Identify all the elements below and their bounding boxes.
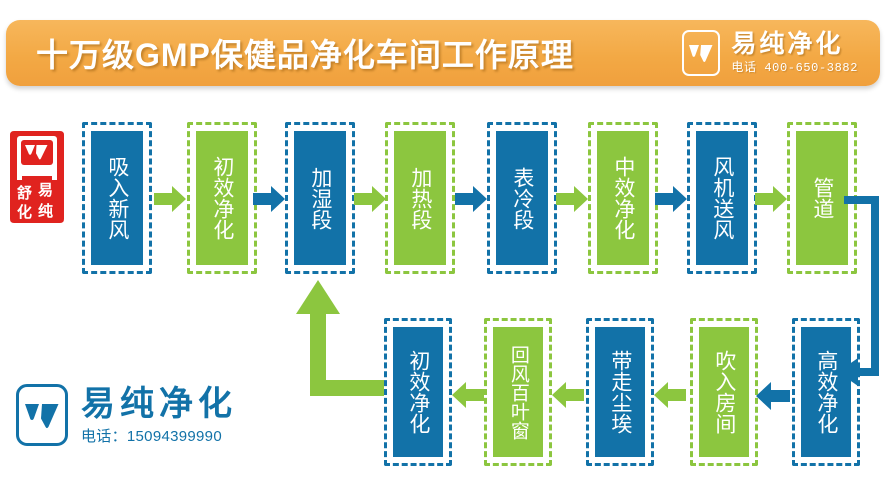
red-seal-stamp-icon: 舒易 化纯 (8, 128, 66, 226)
node-label: 中效净化 (612, 156, 634, 240)
node-label: 初效净化 (211, 156, 233, 240)
node-fill: 加热段 (394, 131, 446, 265)
flow-node-row1-5[interactable]: 中效净化 (588, 122, 658, 274)
node-fill: 加湿段 (294, 131, 346, 265)
prefilter-to-humidifier-connector (296, 280, 386, 396)
flow-arrow-row2-3 (756, 382, 790, 410)
flow-node-row1-3[interactable]: 加热段 (385, 122, 455, 274)
page-title: 十万级GMP保健品净化车间工作原理 (36, 30, 574, 76)
node-label: 吸入新风 (106, 156, 128, 240)
node-label: 风机送风 (711, 156, 733, 240)
flow-node-row1-0[interactable]: 吸入新风 (82, 122, 152, 274)
node-fill: 中效净化 (597, 131, 649, 265)
node-label: 高效净化 (815, 350, 837, 434)
node-fill: 高效净化 (801, 327, 851, 457)
node-fill: 风机送风 (696, 131, 748, 265)
flow-arrow-row2-2 (654, 382, 686, 408)
yichun-w-mark-icon (682, 30, 720, 76)
flow-arrow-row1-1 (253, 186, 285, 212)
flow-arrow-row1-5 (655, 186, 687, 212)
flow-arrow-row2-1 (552, 382, 584, 408)
flow-arrow-row1-4 (556, 186, 588, 212)
node-label: 加热段 (409, 167, 431, 230)
diagram-canvas: 十万级GMP保健品净化车间工作原理 易纯净化 电话 400-650-3882 (0, 0, 886, 488)
flow-node-row1-6[interactable]: 风机送风 (687, 122, 757, 274)
flow-arrow-row1-6 (755, 186, 787, 212)
flow-arrow-row2-0 (452, 382, 484, 408)
flow-node-row1-1[interactable]: 初效净化 (187, 122, 257, 274)
flow-node-row2-0[interactable]: 初效净化 (384, 318, 452, 466)
svg-text:化: 化 (17, 203, 32, 221)
footer-brand-phone: 电话：15094399990 (81, 429, 237, 444)
node-fill: 初效净化 (196, 131, 248, 265)
flow-node-row2-3[interactable]: 吹入房间 (690, 318, 758, 466)
node-fill: 吹入房间 (699, 327, 749, 457)
node-label: 初效净化 (407, 350, 429, 434)
flow-arrow-row1-2 (354, 186, 386, 212)
flow-node-row1-2[interactable]: 加湿段 (285, 122, 355, 274)
header-brand: 易纯净化 电话 400-650-3882 (682, 30, 858, 76)
node-fill: 回风百叶窗 (493, 327, 543, 457)
node-fill: 吸入新风 (91, 131, 143, 265)
flow-arrow-row1-0 (154, 186, 186, 212)
header-banner: 十万级GMP保健品净化车间工作原理 易纯净化 电话 400-650-3882 (6, 20, 880, 86)
node-fill: 管道 (796, 131, 848, 265)
node-fill: 表冷段 (496, 131, 548, 265)
node-fill: 带走尘埃 (595, 327, 645, 457)
yichun-w-mark-icon (16, 384, 68, 446)
svg-text:舒: 舒 (17, 184, 32, 202)
footer-brand: 易纯净化 电话：15094399990 (16, 384, 237, 446)
node-label: 回风百叶窗 (508, 345, 528, 440)
header-brand-phone: 电话 400-650-3882 (731, 62, 858, 74)
node-label: 加湿段 (309, 167, 331, 230)
footer-brand-name: 易纯净化 (81, 387, 237, 421)
node-fill: 初效净化 (393, 327, 443, 457)
svg-text:纯: 纯 (38, 202, 53, 220)
flow-node-row2-2[interactable]: 带走尘埃 (586, 318, 654, 466)
node-label: 表冷段 (511, 167, 533, 230)
node-label: 带走尘埃 (609, 350, 631, 434)
header-brand-name: 易纯净化 (731, 32, 843, 57)
flow-arrow-row1-3 (455, 186, 487, 212)
node-label: 吹入房间 (713, 350, 735, 434)
flow-node-row2-4[interactable]: 高效净化 (792, 318, 860, 466)
node-label: 管道 (811, 177, 833, 219)
flow-node-row2-1[interactable]: 回风百叶窗 (484, 318, 552, 466)
flow-node-row1-4[interactable]: 表冷段 (487, 122, 557, 274)
svg-text:易: 易 (38, 181, 53, 199)
